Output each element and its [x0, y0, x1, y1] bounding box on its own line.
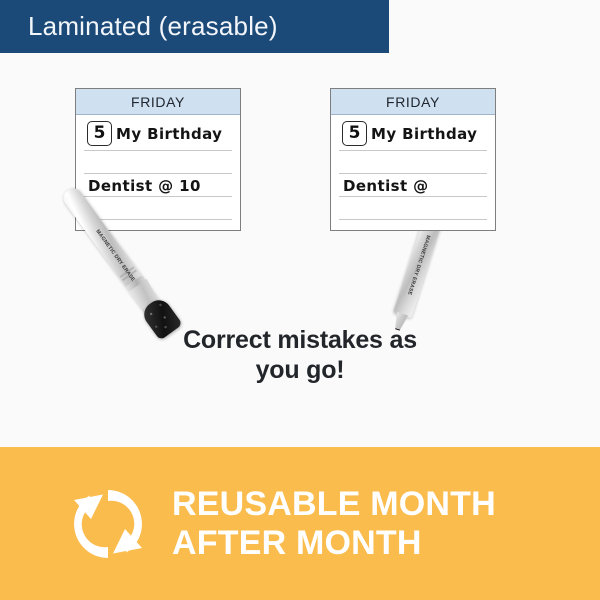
ruled-line [84, 196, 232, 197]
calendar-card-body: 5 My Birthday Dentist @ 10 [76, 115, 240, 231]
ruled-line [84, 219, 232, 220]
calendar-event-2: Dentist @ 10 [88, 177, 201, 195]
calendar-event-1: My Birthday [371, 125, 477, 143]
ruled-line [339, 173, 487, 174]
calendar-card-header: FRIDAY [331, 89, 495, 115]
laminated-banner: Laminated (erasable) [0, 0, 389, 53]
calendar-date-box: 5 [87, 121, 112, 146]
tagline-line-1: Correct mistakes as [0, 326, 600, 356]
tagline: Correct mistakes as you go! [0, 326, 600, 385]
calendar-date-box: 5 [342, 121, 367, 146]
reusable-banner-text: REUSABLE MONTH AFTER MONTH [172, 485, 496, 561]
calendar-date-number: 5 [94, 125, 106, 142]
recycle-refresh-icon [58, 474, 158, 574]
tagline-line-2: you go! [0, 356, 600, 386]
calendar-card-header: FRIDAY [76, 89, 240, 115]
calendar-event-1: My Birthday [116, 125, 222, 143]
calendar-card-after: FRIDAY 5 My Birthday Dentist @ [330, 88, 496, 231]
laminated-banner-label: Laminated (erasable) [0, 11, 278, 42]
ruled-line [339, 219, 487, 220]
calendar-card-body: 5 My Birthday Dentist @ [331, 115, 495, 231]
ruled-line [84, 150, 232, 151]
reusable-banner: REUSABLE MONTH AFTER MONTH [0, 447, 600, 600]
reusable-line-1: REUSABLE MONTH [172, 485, 496, 523]
calendar-card-before: FRIDAY 5 My Birthday Dentist @ 10 [75, 88, 241, 231]
calendar-event-2: Dentist @ [343, 177, 429, 195]
calendar-day-name: FRIDAY [386, 94, 440, 110]
reusable-line-2: AFTER MONTH [172, 524, 496, 562]
calendar-date-number: 5 [349, 125, 361, 142]
ruled-line [339, 196, 487, 197]
ruled-line [84, 173, 232, 174]
ruled-line [339, 150, 487, 151]
calendar-day-name: FRIDAY [131, 94, 185, 110]
